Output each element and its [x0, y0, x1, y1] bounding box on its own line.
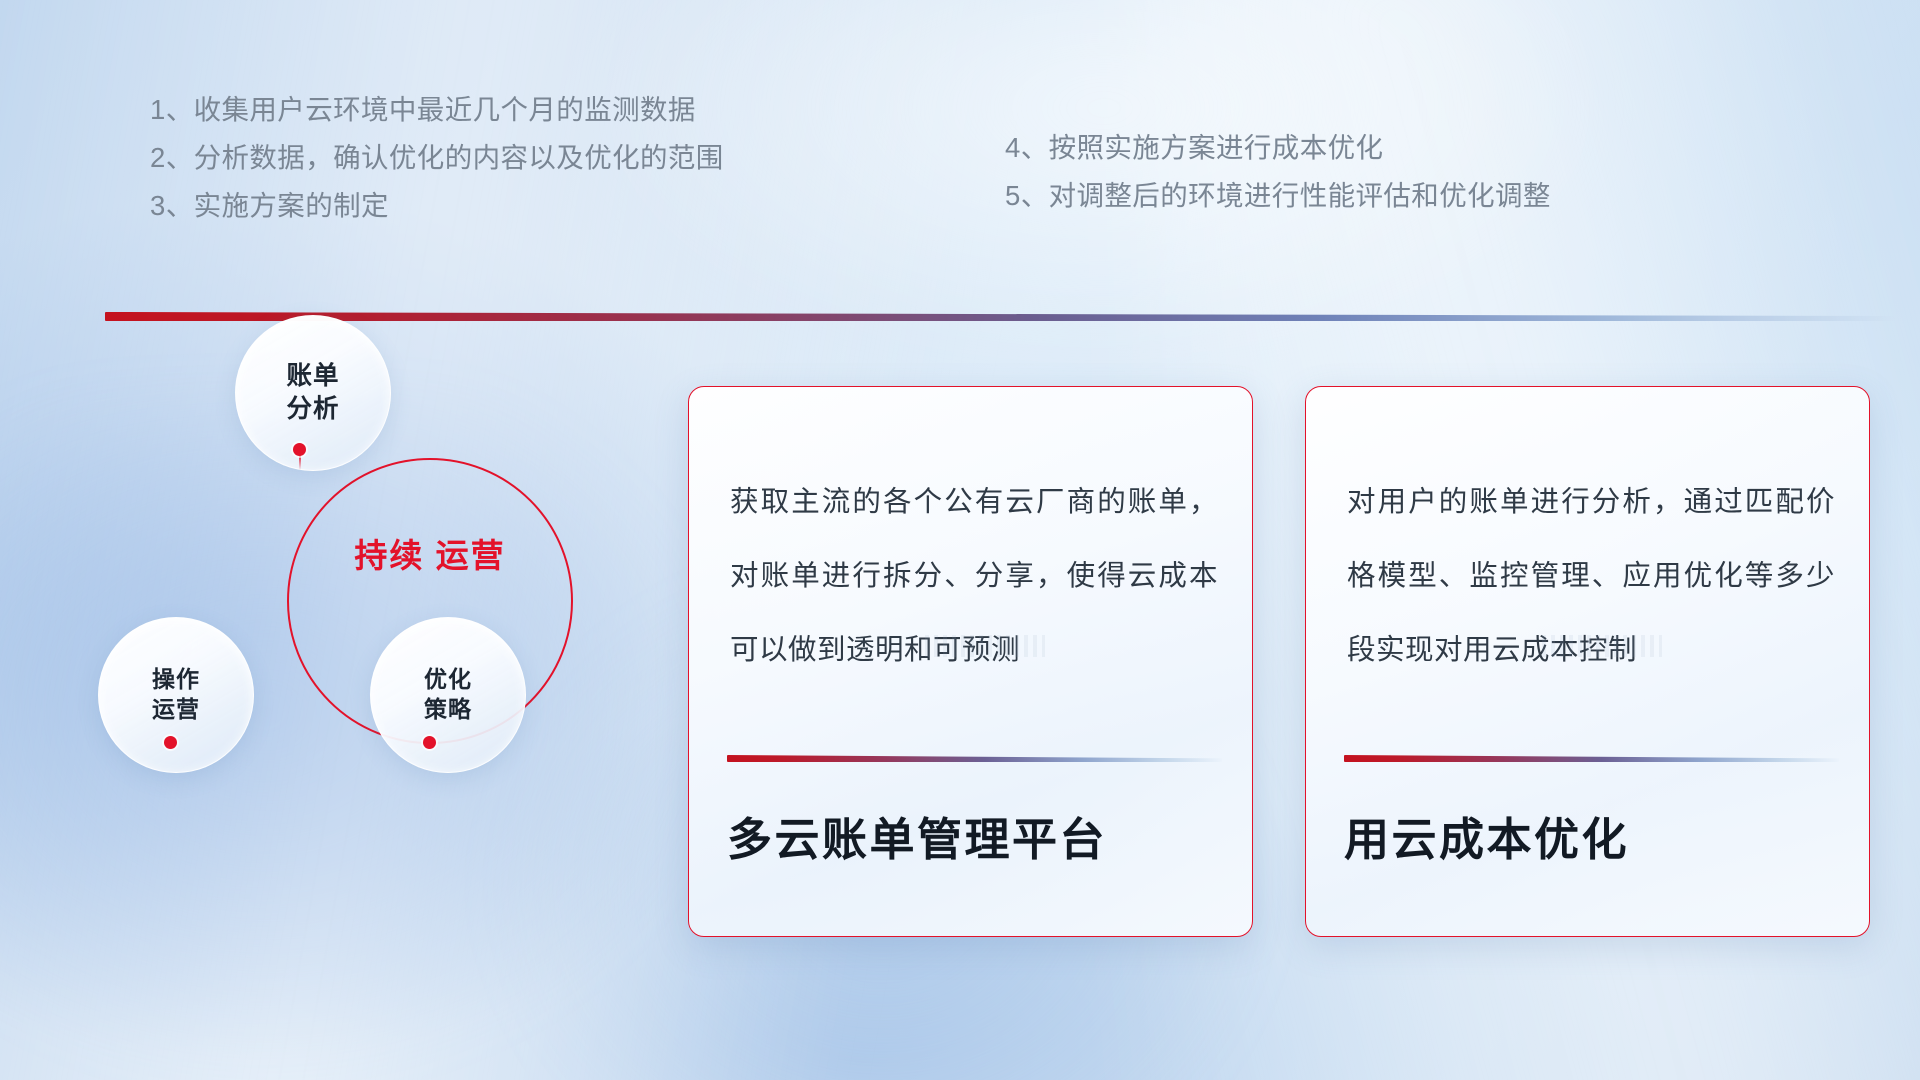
card-group: 获取主流的各个公有云厂商的账单，对账单进行拆分、分享，使得云成本可以做到透明和可…: [0, 0, 1920, 1080]
card-cost-optimization[interactable]: 对用户的账单进行分析，通过匹配价格模型、监控管理、应用优化等多少段实现对用云成本…: [1305, 386, 1870, 937]
card-title: 用云成本优化: [1344, 803, 1839, 868]
card-texture-decoration: [925, 635, 1045, 657]
card-divider: [727, 755, 1222, 762]
card-texture-decoration: [1542, 635, 1662, 657]
card-divider: [1344, 755, 1839, 762]
card-title: 多云账单管理平台: [727, 803, 1222, 868]
card-multicloud-billing[interactable]: 获取主流的各个公有云厂商的账单，对账单进行拆分、分享，使得云成本可以做到透明和可…: [688, 386, 1253, 937]
